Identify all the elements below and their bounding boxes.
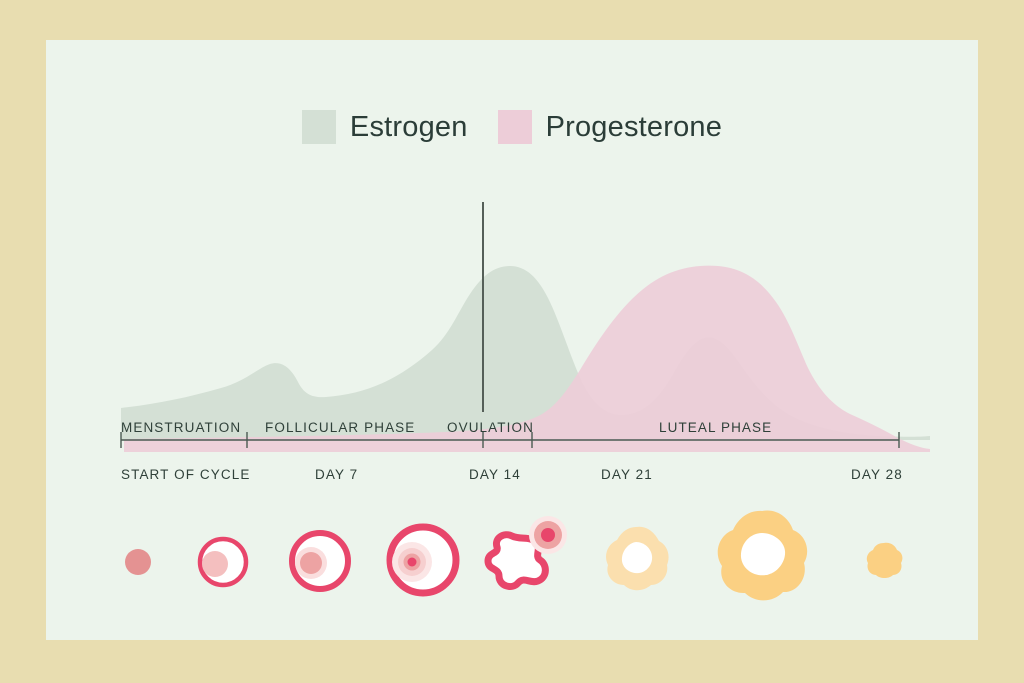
mature-corpus-luteum-icon — [705, 503, 820, 618]
day-label-day7: DAY 7 — [315, 467, 358, 482]
ruptured-follicle-icon — [472, 508, 577, 613]
day-label-start: START OF CYCLE — [121, 467, 250, 482]
day-label-day14: DAY 14 — [469, 467, 521, 482]
phase-label-ovulation: OVULATION — [447, 420, 534, 435]
icon-ruptured-follicle — [464, 495, 584, 625]
primary-follicle-icon — [183, 520, 263, 600]
early-corpus-luteum-icon — [591, 515, 681, 605]
icon-mature-corpus-luteum — [702, 495, 822, 625]
antral-follicle-icon — [373, 510, 473, 610]
day-label-day21: DAY 21 — [601, 467, 653, 482]
corpus-albicans-icon — [854, 530, 914, 590]
phase-label-luteal: LUTEAL PHASE — [659, 420, 772, 435]
follicle-stage-icons — [46, 495, 978, 625]
phase-label-follicular: FOLLICULAR PHASE — [265, 420, 415, 435]
day-label-day28: DAY 28 — [851, 467, 903, 482]
icon-early-corpus-luteum — [576, 495, 696, 625]
infographic-panel: Estrogen Progesterone — [46, 40, 978, 640]
secondary-follicle-icon — [275, 515, 365, 605]
phase-label-menstruation: MENSTRUATION — [121, 420, 241, 435]
icon-secondary-follicle — [260, 495, 380, 625]
primordial-follicle-icon — [108, 530, 168, 590]
icon-corpus-albicans — [824, 495, 944, 625]
